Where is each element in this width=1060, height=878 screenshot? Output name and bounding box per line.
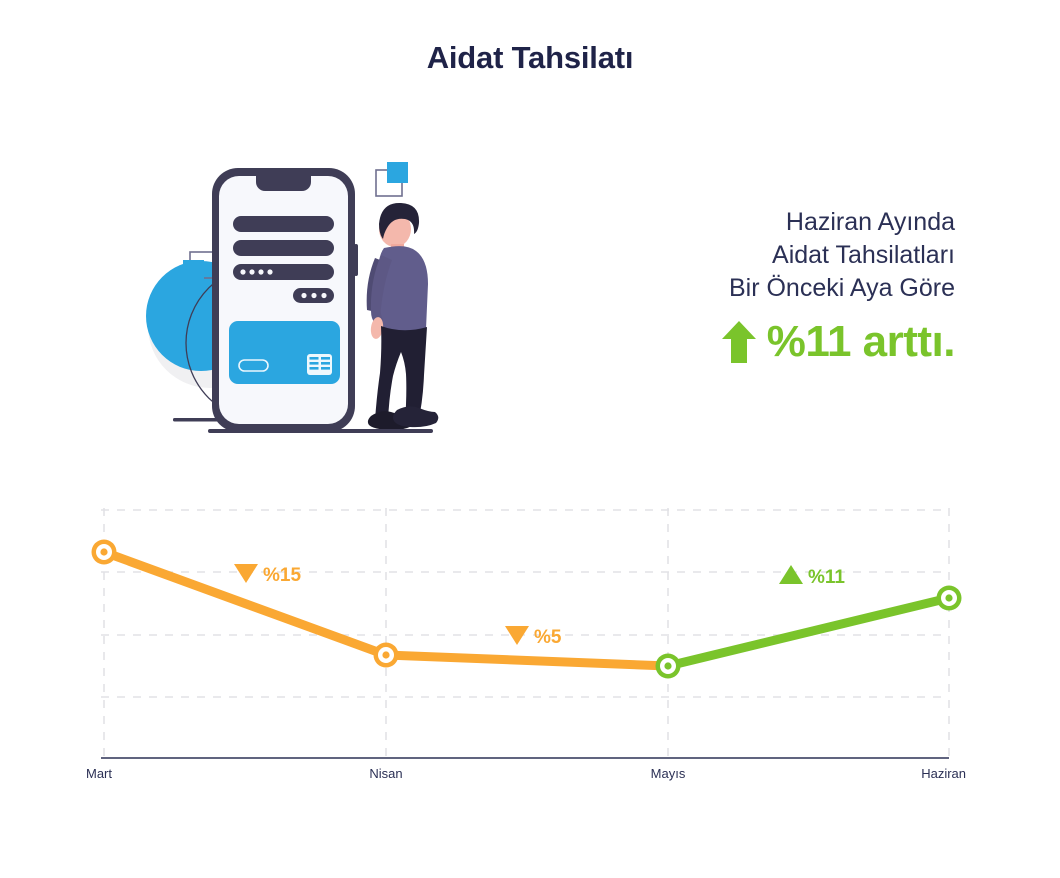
phone-content-bar [233, 240, 334, 256]
card-chip-icon [307, 354, 332, 375]
summary-line-3: Bir Önceki Aya Göre [525, 272, 955, 305]
infographic-page: Aidat Tahsilatı [0, 0, 1060, 878]
annotation-nisan-mayis: %5 [505, 626, 562, 648]
annotation-label: %5 [534, 627, 562, 648]
arrow-up-icon [721, 320, 757, 364]
triangle-down-icon [234, 564, 258, 583]
summary-line-1: Haziran Ayında [525, 206, 955, 239]
x-tick-label-nisan: Nisan [369, 766, 402, 781]
horizontal-gridlines [101, 510, 949, 697]
data-point-marker-mayis[interactable] [656, 654, 681, 679]
phone-dot-bar-small [293, 288, 334, 303]
phone-dot-bar [233, 264, 334, 280]
smartphone [212, 168, 358, 432]
accent-square-right [376, 162, 408, 196]
x-tick-label-mayis: Mayıs [651, 766, 686, 781]
data-point-marker-mart[interactable] [92, 540, 117, 565]
credit-card [229, 321, 340, 384]
x-tick-label-mart: Mart [86, 766, 112, 781]
collections-line-chart: %15 %5 %11 Mart Nisan Mayıs Haziran [0, 480, 1060, 800]
summary-line-2: Aidat Tahsilatları [525, 239, 955, 272]
triangle-up-icon [779, 565, 803, 584]
ground-line [208, 429, 433, 433]
phone-content-bar [233, 216, 334, 232]
page-title: Aidat Tahsilatı [0, 40, 1060, 76]
mobile-payment-illustration [88, 148, 478, 448]
summary-highlight: %11 arttı. [525, 319, 955, 365]
standing-person [367, 203, 439, 430]
data-point-marker-haziran[interactable] [937, 586, 962, 611]
series-segment-rising [668, 598, 949, 666]
annotation-label: %15 [263, 565, 301, 586]
annotation-mayis-haziran: %11 [779, 565, 845, 588]
annotation-label: %11 [808, 567, 845, 588]
annotation-mart-nisan: %15 [234, 480, 301, 800]
data-point-marker-nisan[interactable] [374, 643, 399, 668]
x-tick-label-haziran: Haziran [921, 766, 966, 781]
summary-block: Haziran Ayında Aidat Tahsilatları Bir Ön… [525, 206, 955, 365]
summary-highlight-text: %11 arttı. [767, 319, 955, 365]
